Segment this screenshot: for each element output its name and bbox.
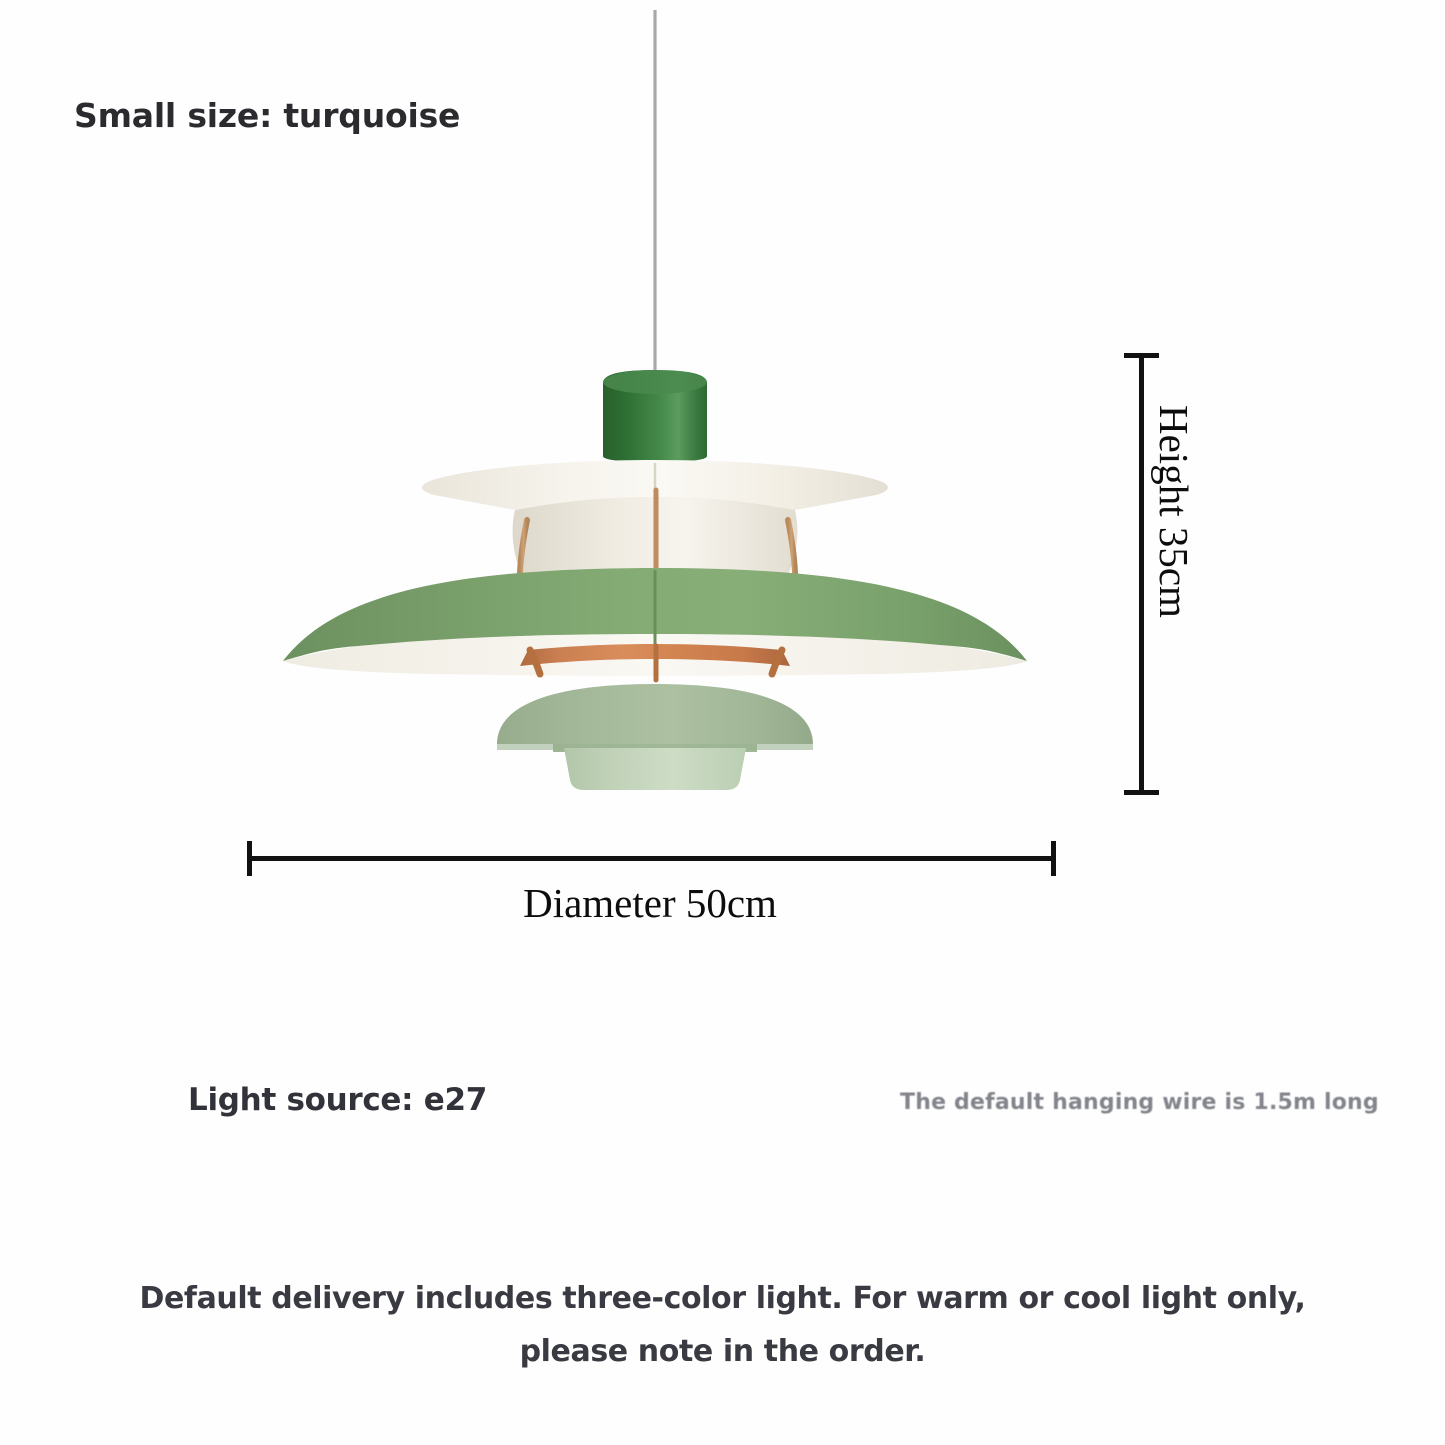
diameter-dimension-line [247,856,1055,861]
diameter-dimension-cap-right [1051,841,1056,876]
delivery-note-line-1: Default delivery includes three-color li… [0,1272,1445,1325]
height-dimension-cap-bottom [1124,790,1159,795]
top-cylinder [603,370,707,462]
product-spec-page: Small size: turquoise [0,0,1445,1445]
bottom-diffuser [564,748,746,790]
light-source-label: Light source: e27 [188,1082,487,1118]
height-dimension-line [1139,353,1144,795]
wire-length-label: The default hanging wire is 1.5m long [900,1090,1379,1115]
lower-shade [497,684,813,752]
diameter-dimension-cap-left [247,841,252,876]
height-dimension-cap-top [1124,353,1159,358]
diameter-dimension-label: Diameter 50cm [0,879,1300,927]
height-dimension-label: Height 35cm [1150,405,1198,685]
pendant-lamp-illustration [0,0,1445,1445]
delivery-note: Default delivery includes three-color li… [0,1272,1445,1378]
delivery-note-line-2: please note in the order. [0,1325,1445,1378]
